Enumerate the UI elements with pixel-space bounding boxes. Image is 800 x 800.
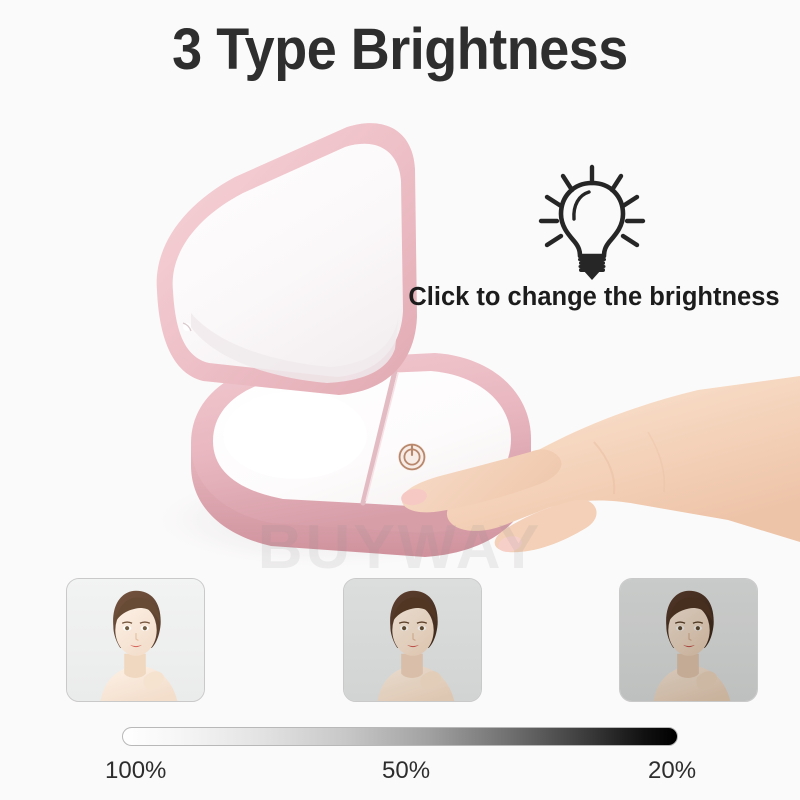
brightness-label-50: 50% bbox=[382, 757, 430, 785]
brightness-thumb-20[interactable] bbox=[619, 578, 758, 702]
lid-glint bbox=[183, 323, 191, 331]
page-title: 3 Type Brightness bbox=[28, 16, 772, 83]
brightness-thumbnail-row bbox=[0, 578, 800, 702]
lightbulb-icon bbox=[538, 164, 646, 282]
bulb-ray-lower-left bbox=[547, 236, 561, 245]
bulb-tip bbox=[583, 270, 601, 280]
product-marketing-image: 3 Type Brightness bbox=[0, 0, 800, 800]
feature-caption: Click to change the brightness bbox=[398, 283, 790, 312]
brightness-thumb-100[interactable] bbox=[66, 578, 205, 702]
watermark: BUYWAY bbox=[0, 512, 800, 583]
bulb-ray-mid-left bbox=[547, 197, 561, 206]
bulb-glass bbox=[561, 183, 623, 256]
brightness-gradient-bar[interactable] bbox=[122, 727, 678, 746]
mirror-lid bbox=[157, 123, 417, 395]
bulb-base bbox=[580, 256, 605, 270]
brightness-label-20: 20% bbox=[648, 757, 696, 785]
bulb-ray-lower-right bbox=[623, 236, 637, 245]
bulb-ray-mid-right bbox=[623, 197, 637, 206]
brightness-thumb-50[interactable] bbox=[343, 578, 482, 702]
brightness-label-100: 100% bbox=[105, 757, 166, 785]
bulb-highlight bbox=[574, 192, 589, 219]
